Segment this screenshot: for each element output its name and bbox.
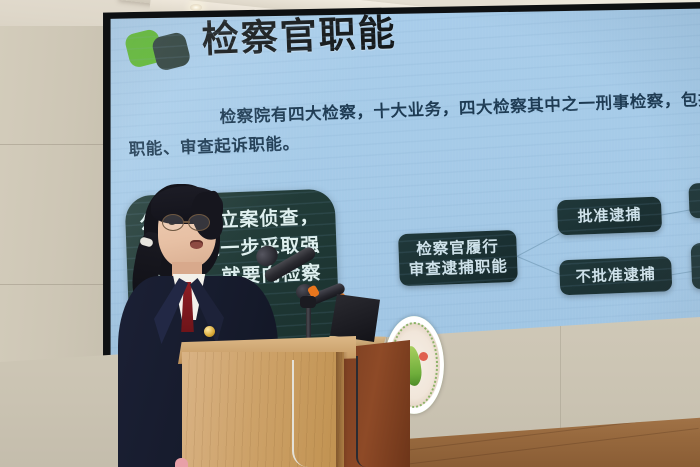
glasses-lens bbox=[188, 214, 210, 231]
slide-title: 检察官职能 bbox=[201, 14, 397, 60]
wood-grain bbox=[182, 352, 344, 467]
flow-node-main-line-2: 审查逮捕职能 bbox=[408, 256, 508, 280]
flow-connector bbox=[661, 209, 691, 215]
microphone-clip bbox=[300, 296, 316, 308]
wall-seam bbox=[0, 284, 108, 285]
glasses bbox=[162, 214, 218, 232]
screenshot-root: 检察官职能 检察院有四大检察，十大业务，四大检察其中之一刑事检察，包括 职能、审… bbox=[0, 0, 700, 467]
laptop-screen bbox=[330, 294, 380, 342]
mouth-speaking bbox=[190, 240, 203, 249]
flow-node-approve-arrest: 批准逮捕 bbox=[557, 197, 662, 236]
recessed-downlight-icon bbox=[190, 4, 202, 11]
podium-edge-shadow bbox=[336, 352, 348, 467]
glasses-lens bbox=[162, 214, 184, 231]
flow-connector bbox=[517, 256, 562, 276]
flow-node-prosecute: 起诉 bbox=[688, 180, 700, 218]
pink-object bbox=[175, 458, 188, 467]
slide-logo bbox=[126, 27, 198, 74]
flow-node-deny-arrest: 不批准逮捕 bbox=[559, 256, 672, 295]
flow-node-main: 检察官履行 审查逮捕职能 bbox=[398, 230, 518, 286]
flow-connector bbox=[517, 233, 560, 256]
podium-side-panel bbox=[342, 340, 410, 467]
black-cable bbox=[356, 356, 366, 467]
slide-body-text: 检察院有四大检察，十大业务，四大检察其中之一刑事检察，包括 职能、审查起诉职能。 bbox=[127, 86, 700, 164]
wall-seam bbox=[0, 144, 108, 145]
white-cable bbox=[292, 360, 308, 467]
flow-node-partial-right: 取 视 bbox=[691, 240, 700, 289]
emblem-dot-icon bbox=[419, 352, 428, 361]
uniform-badge-icon bbox=[204, 326, 215, 337]
podium-front-panel bbox=[182, 352, 344, 467]
glasses-bridge bbox=[183, 221, 190, 223]
logo-square-dark-icon bbox=[151, 31, 192, 72]
